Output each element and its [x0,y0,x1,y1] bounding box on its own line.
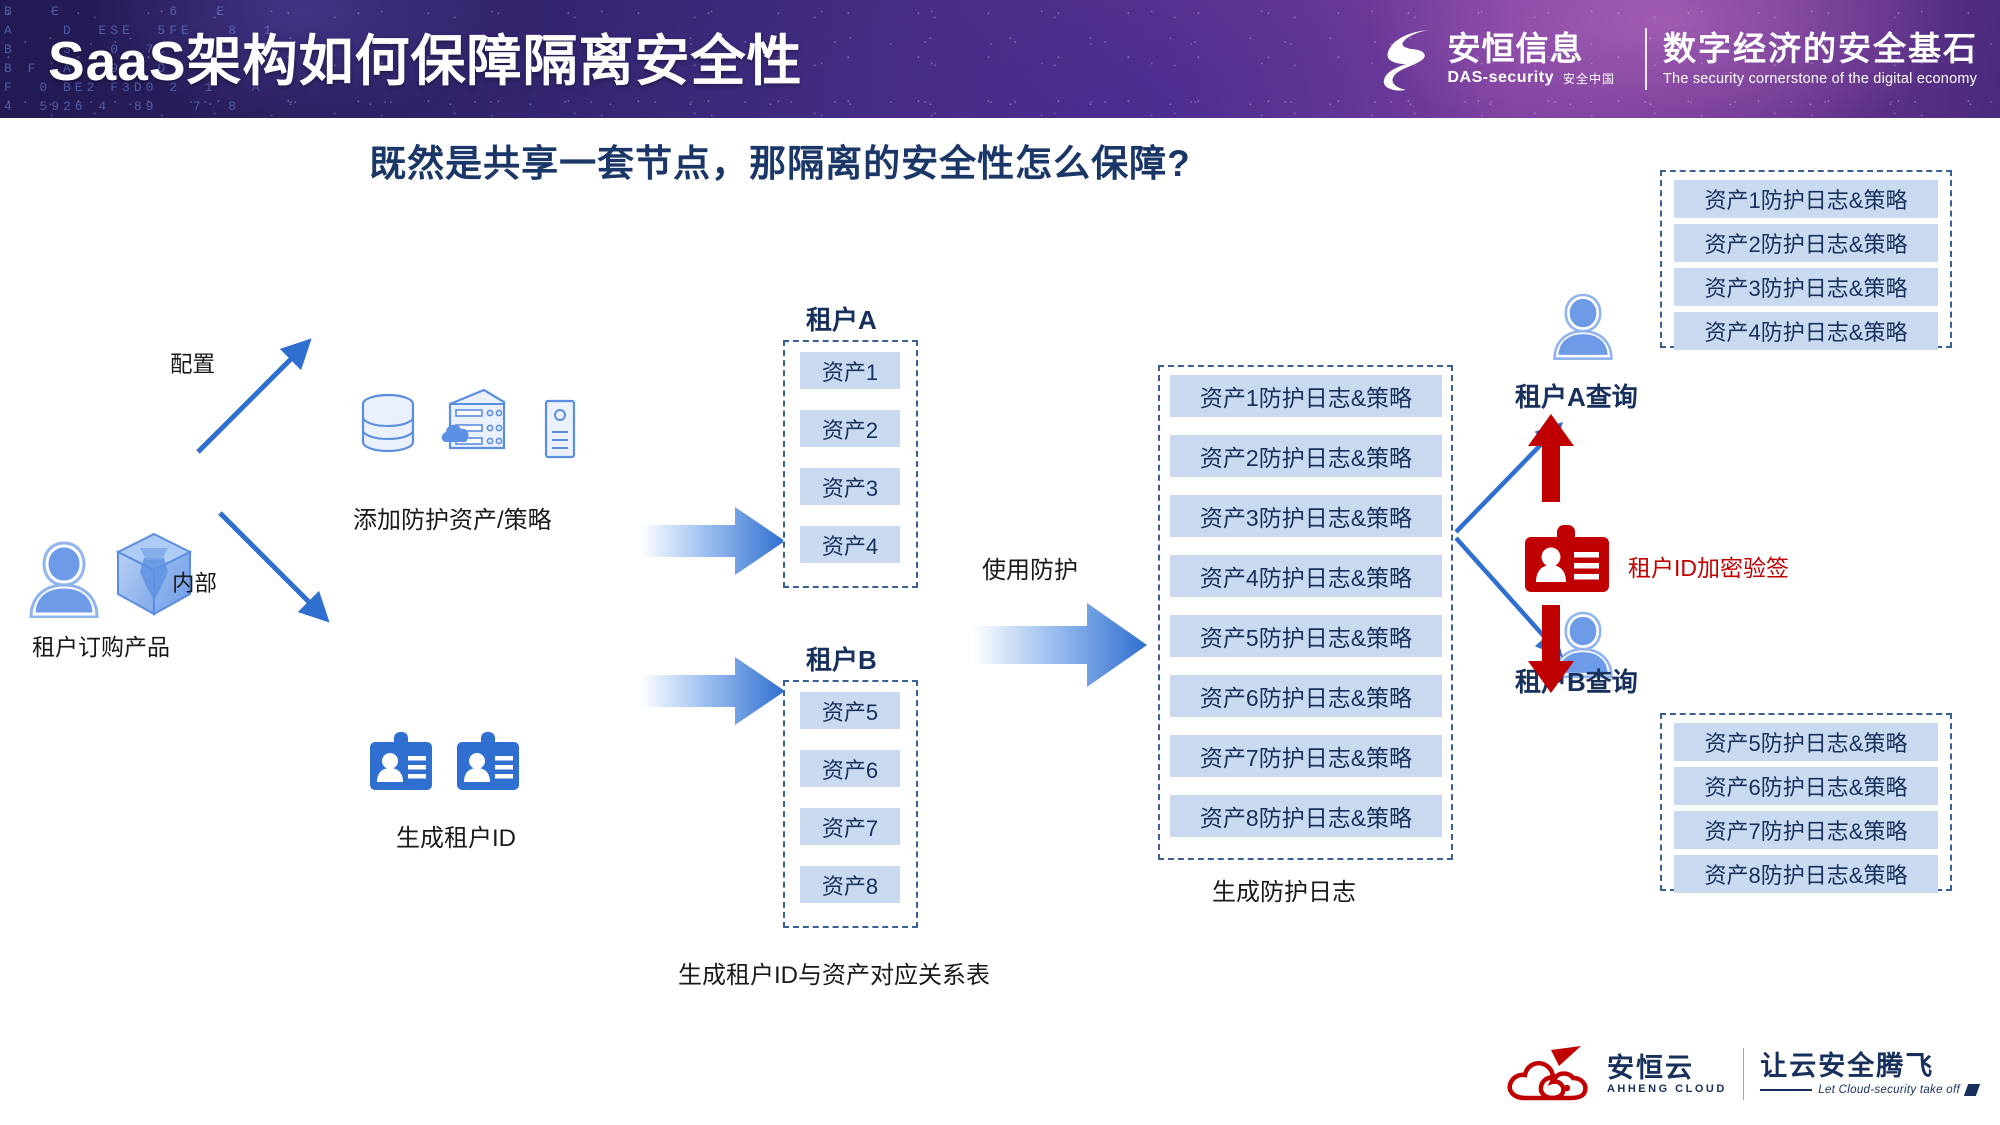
protection-log-chip: 资产3防护日志&策略 [1170,495,1442,537]
tenant-a-asset-chip: 资产4 [800,526,900,563]
footer-slogan-rule [1760,1089,1812,1091]
tenant-a-asset-chip: 资产1 [800,352,900,389]
cloud-server-icon [438,384,510,465]
brand-slogan-cn: 数字经济的安全基石 [1663,31,1978,67]
footer-slogan-en-row: Let Cloud-security take off [1760,1084,1978,1096]
header-brand: 安恒信息 DAS-security 安全中国 数字经济的安全基石 The sec… [1376,16,1979,102]
footer-slogan-tick-icon [1964,1084,1980,1096]
brand-name-block: 安恒信息 DAS-security 安全中国 [1448,31,1616,87]
host-server-icon [540,398,580,465]
arrow-to-tenant-a [640,505,785,577]
query-a-result-chip: 资产1防护日志&策略 [1674,180,1938,218]
footer-brand: 安恒云 AHHENG CLOUD 让云安全腾飞 Let Cloud-securi… [1505,1041,1978,1107]
slide-root: B E 6 E A D ESE 5FE 8 1 B C3 0 7C B 2 B … [0,0,2000,1125]
edge-label-config: 配置 [170,347,215,379]
brand-slogan-en: The security cornerstone of the digital … [1663,71,1978,87]
tenant-b-asset-chip: 资产6 [800,750,900,787]
footer-brand-name-block: 安恒云 AHHENG CLOUD [1607,1054,1727,1095]
arrow-verify-down [1528,605,1574,693]
brand-divider [1645,28,1647,90]
generate-tenant-id-label: 生成租户ID [396,818,516,853]
tenant-a-asset-chip: 资产2 [800,410,900,447]
tenant-id-card-icon-1 [368,730,434,799]
query-b-result-chip: 资产5防护日志&策略 [1674,723,1938,761]
arrow-use-protection [972,600,1147,690]
protection-log-chip: 资产6防护日志&策略 [1170,675,1442,717]
section-subtitle: 既然是共享一套节点，那隔离的安全性怎么保障? [0,133,1560,187]
edge-label-internal: 内部 [172,566,217,598]
page-title: SaaS架构如何保障隔离安全性 [48,16,803,96]
brand-name-en-sub: 安全中国 [1563,70,1615,87]
protection-log-chip: 资产7防护日志&策略 [1170,735,1442,777]
tenant-b-asset-chip: 资产8 [800,866,900,903]
query-a-result-chip: 资产4防护日志&策略 [1674,312,1938,350]
protection-log-chip: 资产1防护日志&策略 [1170,375,1442,417]
tenant-a-title: 租户A [806,300,877,337]
tenant-a-asset-chip: 资产3 [800,468,900,505]
footer-brand-name-en: AHHENG CLOUD [1607,1083,1727,1095]
database-icon [358,392,418,465]
tenant-id-card-icon-2 [455,730,521,799]
brand-name-en: DAS-security [1448,69,1554,87]
footer-slogan-cn: 让云安全腾飞 [1760,1052,1978,1081]
tenant-user-icon [28,540,100,623]
tenant-id-verify-icon [1522,524,1612,599]
query-b-result-chip: 资产6防护日志&策略 [1674,767,1938,805]
query-a-result-chip: 资产3防护日志&策略 [1674,268,1938,306]
protection-log-chip: 资产5防护日志&策略 [1170,615,1442,657]
das-security-logo-icon [1376,24,1438,94]
slide-header: B E 6 E A D ESE 5FE 8 1 B C3 0 7C B 2 B … [0,0,2000,118]
ahheng-cloud-logo-icon [1505,1046,1593,1102]
add-assets-label: 添加防护资产/策略 [353,500,552,535]
protection-log-chip: 资产4防护日志&策略 [1170,555,1442,597]
protection-log-chip: 资产8防护日志&策略 [1170,795,1442,837]
query-a-label: 租户A查询 [1515,377,1638,414]
arrow-verify-up [1528,414,1574,502]
query-b-result-chip: 资产8防护日志&策略 [1674,855,1938,893]
mapping-table-caption: 生成租户ID与资产对应关系表 [678,955,990,990]
footer-slogan-block: 让云安全腾飞 Let Cloud-security take off [1760,1052,1978,1096]
footer-slogan-en: Let Cloud-security take off [1818,1084,1960,1096]
brand-name-cn: 安恒信息 [1448,31,1616,67]
arrow-internal [212,505,342,635]
footer-brand-name-cn: 安恒云 [1607,1054,1727,1083]
footer-brand-divider [1743,1048,1745,1100]
query-a-user-icon [1552,292,1614,365]
tenant-order-label: 租户订购产品 [32,628,170,662]
encrypt-sign-label: 租户ID加密验签 [1628,549,1789,583]
tenant-b-asset-chip: 资产5 [800,692,900,729]
arrow-to-tenant-b [640,655,785,727]
brand-slogan-block: 数字经济的安全基石 The security cornerstone of th… [1663,31,1978,87]
query-b-result-chip: 资产7防护日志&策略 [1674,811,1938,849]
query-a-result-chip: 资产2防护日志&策略 [1674,224,1938,262]
tenant-b-title: 租户B [806,640,877,677]
protection-log-chip: 资产2防护日志&策略 [1170,435,1442,477]
use-protection-label: 使用防护 [982,550,1078,585]
protection-log-caption: 生成防护日志 [1212,872,1356,907]
tenant-b-asset-chip: 资产7 [800,808,900,845]
